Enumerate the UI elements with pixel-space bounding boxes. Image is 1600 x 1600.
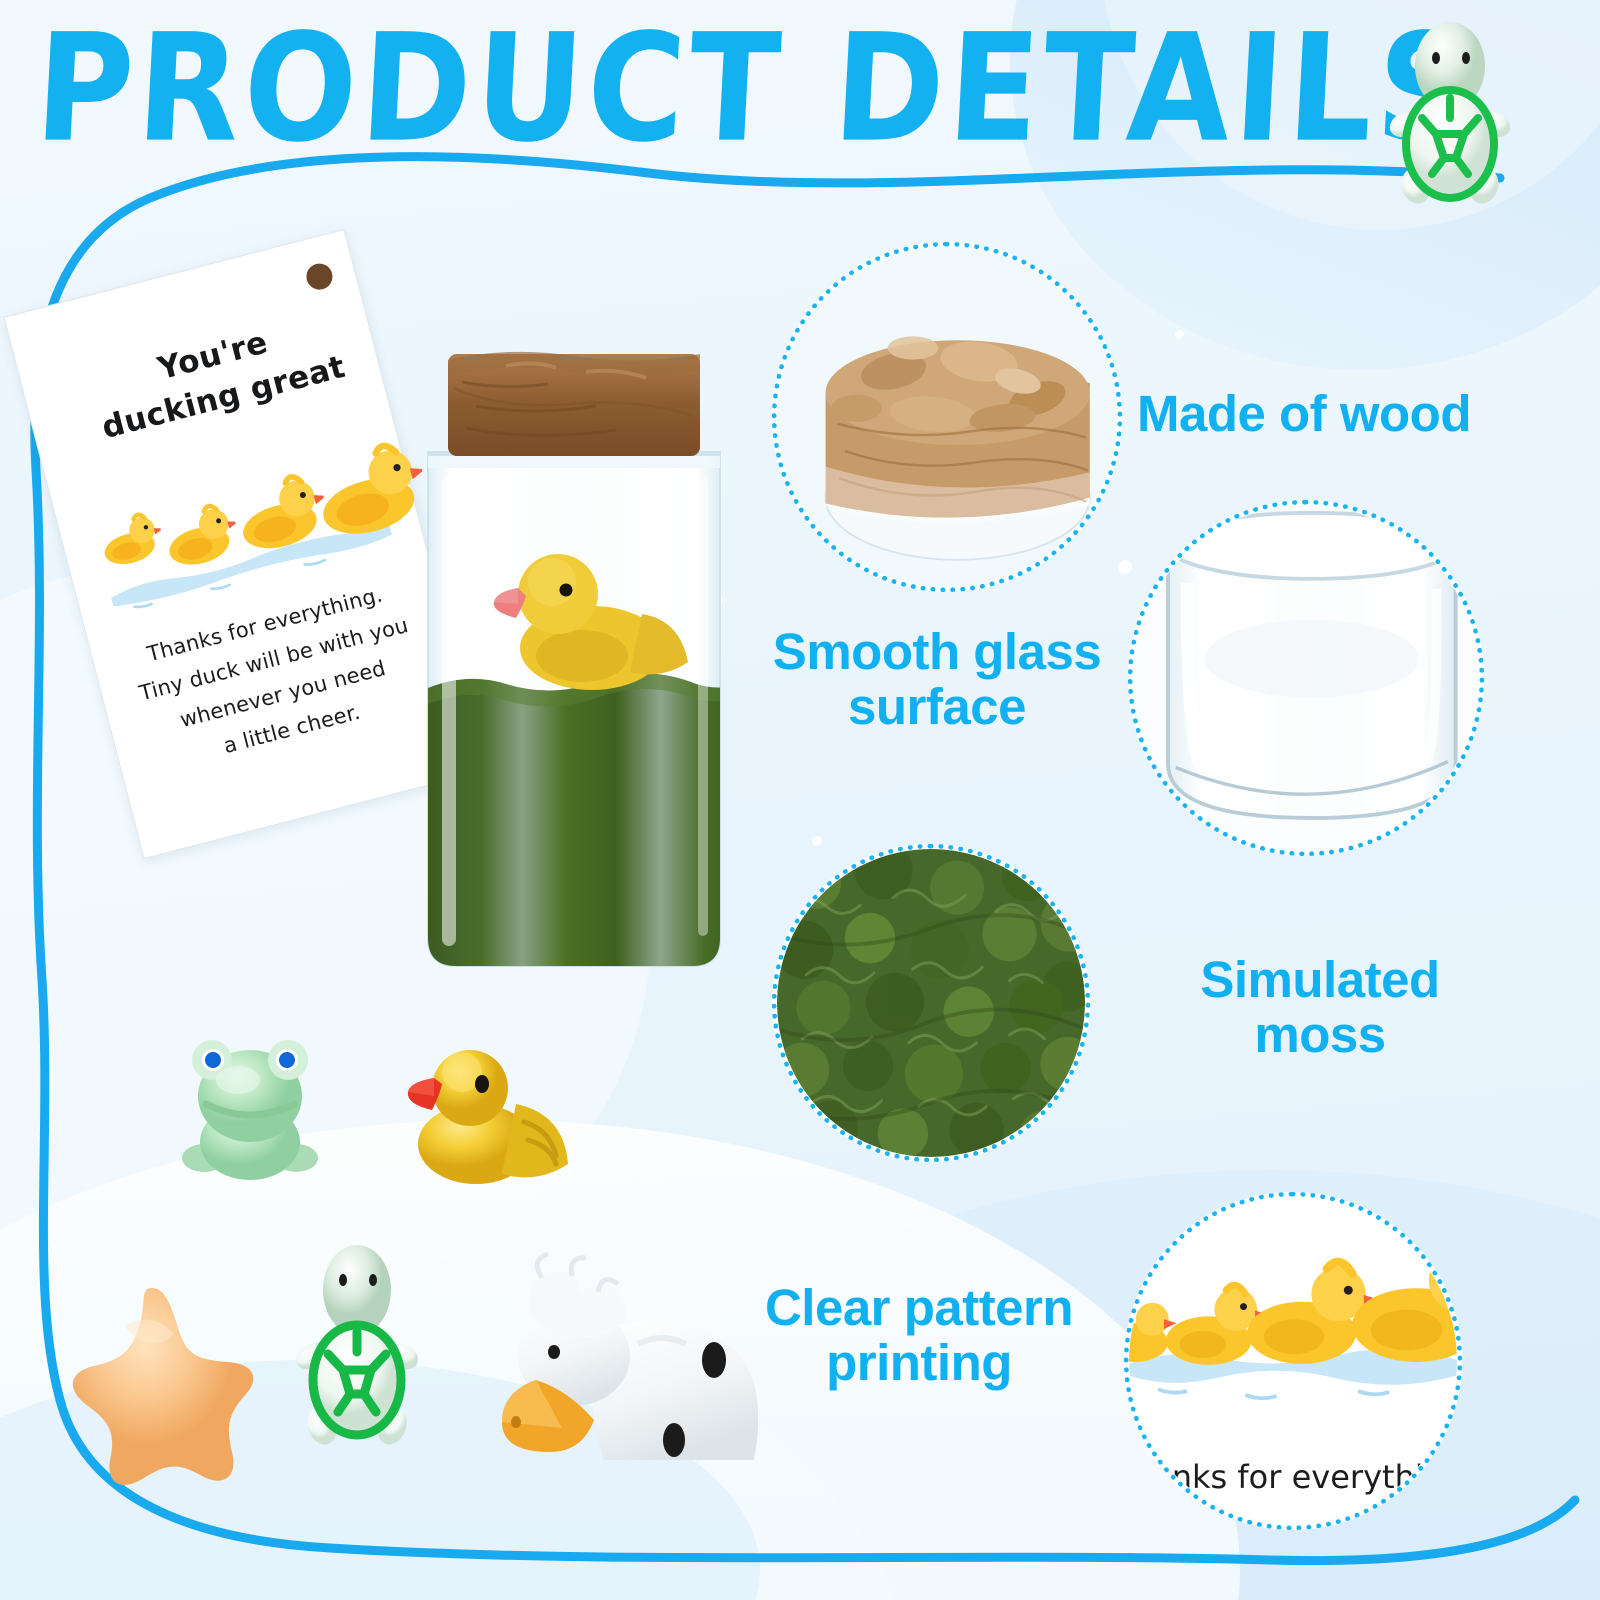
product-details-poster: PRODUCT DETAILS You're ducking great [0, 0, 1600, 1600]
yellow-duck-figurine-icon [400, 1030, 572, 1190]
feature-label-line2: printing [738, 1335, 1100, 1390]
printed-partial-text: nks for everythi [1172, 1458, 1424, 1496]
green-turtle-accent-icon [1380, 18, 1520, 218]
sparkle-dot [1175, 330, 1184, 339]
feature-label-smooth-glass: Smooth glass surface [752, 624, 1122, 734]
feature-circle-smooth-glass [1128, 500, 1484, 856]
cork-stopper-closeup-icon [777, 247, 1117, 587]
feature-circle-simulated-moss [772, 844, 1090, 1162]
feature-label-line1: Clear pattern [738, 1280, 1100, 1335]
cork-stopper [448, 352, 700, 456]
orange-star-figurine-icon [40, 1282, 265, 1497]
feature-label-line2: surface [752, 679, 1122, 734]
printed-pattern-closeup-icon: nks for everythi [1129, 1197, 1457, 1525]
feature-label-made-of-wood: Made of wood [1137, 386, 1471, 441]
simulated-moss-closeup-icon [777, 849, 1085, 1157]
feature-label-clear-pattern: Clear pattern printing [738, 1280, 1100, 1390]
glass-wish-jar [406, 336, 742, 996]
page-title: PRODUCT DETAILS [32, 12, 1370, 168]
green-frog-figurine-icon [180, 1030, 320, 1190]
feature-label-simulated-moss: Simulated moss [1150, 952, 1490, 1062]
green-turtle-figurine-icon [290, 1240, 425, 1470]
feature-label-line2: moss [1150, 1007, 1490, 1062]
sparkle-dot [1118, 560, 1132, 574]
glass-cylinder-closeup-icon [1133, 505, 1479, 851]
feature-label-text: Made of wood [1137, 385, 1471, 442]
feature-label-line1: Smooth glass [752, 624, 1122, 679]
white-goose-figurine-icon [488, 1248, 758, 1478]
sparkle-dot [812, 836, 822, 846]
feature-circle-made-of-wood [772, 242, 1122, 592]
feature-label-line1: Simulated [1150, 952, 1490, 1007]
feature-circle-clear-pattern: nks for everythi [1124, 1192, 1462, 1530]
